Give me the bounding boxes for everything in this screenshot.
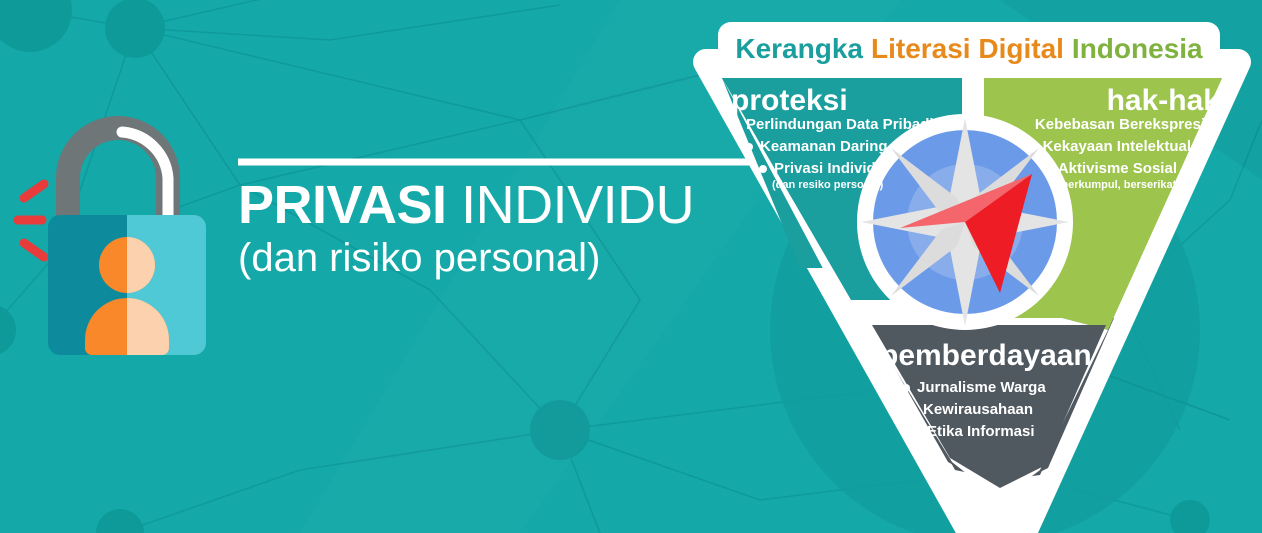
bullet-dot-icon bbox=[902, 384, 910, 392]
list-item: Keamanan Daring bbox=[731, 138, 931, 155]
list-item: Aktivisme Sosial bbox=[1005, 160, 1220, 177]
list-item: Kekayaan Intelektual bbox=[1005, 138, 1220, 155]
list-item-label: Keamanan Daring bbox=[760, 138, 888, 155]
panel-title-pemberdayaan: pemberdayaan bbox=[880, 339, 1092, 373]
title-word-literasi-digital: Literasi Digital bbox=[871, 33, 1064, 65]
headline: PRIVASI INDIVIDU (dan risiko personal) bbox=[238, 178, 758, 278]
list-item: Kewirausahaan bbox=[880, 401, 1050, 418]
bullet-dot-icon bbox=[1184, 165, 1192, 173]
framework-title-card: Kerangka Literasi Digital Indonesia bbox=[724, 28, 1214, 70]
list-item-label: Kebebasan Berekspresi bbox=[1035, 116, 1205, 133]
panel-title-hak-hak: hak-hak bbox=[1107, 84, 1220, 118]
title-word-indonesia: Indonesia bbox=[1072, 33, 1203, 65]
list-item-label: Privasi Individu bbox=[774, 160, 885, 177]
bullet-dot-icon bbox=[1198, 143, 1206, 151]
list-item-label: Aktivisme Sosial bbox=[1058, 160, 1177, 177]
bullet-dot-icon bbox=[1212, 121, 1220, 129]
alert-lines-icon bbox=[18, 184, 44, 257]
panel-items-proteksi: Perlindungan Data Pribadi Keamanan Darin… bbox=[731, 116, 931, 191]
title-word-kerangka: Kerangka bbox=[735, 33, 863, 65]
list-item: Kebebasan Berekspresi bbox=[1005, 116, 1220, 133]
list-item: Jurnalisme Warga bbox=[880, 379, 1050, 396]
list-item-label: Perlindungan Data Pribadi bbox=[746, 116, 934, 133]
list-item: Perlindungan Data Pribadi bbox=[731, 116, 931, 133]
bullet-dot-icon bbox=[759, 165, 767, 173]
panel-items-pemberdayaan: Jurnalisme Warga Kewirausahaan Etika Inf… bbox=[880, 379, 1050, 445]
headline-bold-word: PRIVASI bbox=[238, 175, 447, 235]
headline-line-2: (dan risiko personal) bbox=[238, 238, 758, 278]
list-item-sublabel: (dan resiko personal) bbox=[731, 179, 931, 191]
panel-title-proteksi: proteksi bbox=[731, 84, 848, 118]
headline-line-1: PRIVASI INDIVIDU bbox=[238, 178, 758, 232]
list-item-label: Jurnalisme Warga bbox=[917, 379, 1046, 396]
list-item: Etika Informasi bbox=[880, 423, 1050, 440]
list-item: Privasi Individu bbox=[731, 160, 931, 177]
list-item-label: Kewirausahaan bbox=[923, 401, 1033, 418]
padlock-person-icon bbox=[10, 110, 225, 375]
infographic-banner: PRIVASI INDIVIDU (dan risiko personal) K… bbox=[0, 0, 1262, 533]
headline-regular-word: INDIVIDU bbox=[461, 175, 694, 235]
bullet-dot-icon bbox=[745, 143, 753, 151]
bullet-dot-icon bbox=[731, 121, 739, 129]
panel-items-hak-hak: Kebebasan Berekspresi Kekayaan Intelektu… bbox=[1005, 116, 1220, 191]
bullet-dot-icon bbox=[908, 406, 916, 414]
list-item-label: Etika Informasi bbox=[927, 423, 1035, 440]
list-item-sublabel: (berkumpul, berserikat) bbox=[1005, 179, 1220, 191]
list-item-label: Kekayaan Intelektual bbox=[1043, 138, 1191, 155]
bullet-dot-icon bbox=[912, 428, 920, 436]
